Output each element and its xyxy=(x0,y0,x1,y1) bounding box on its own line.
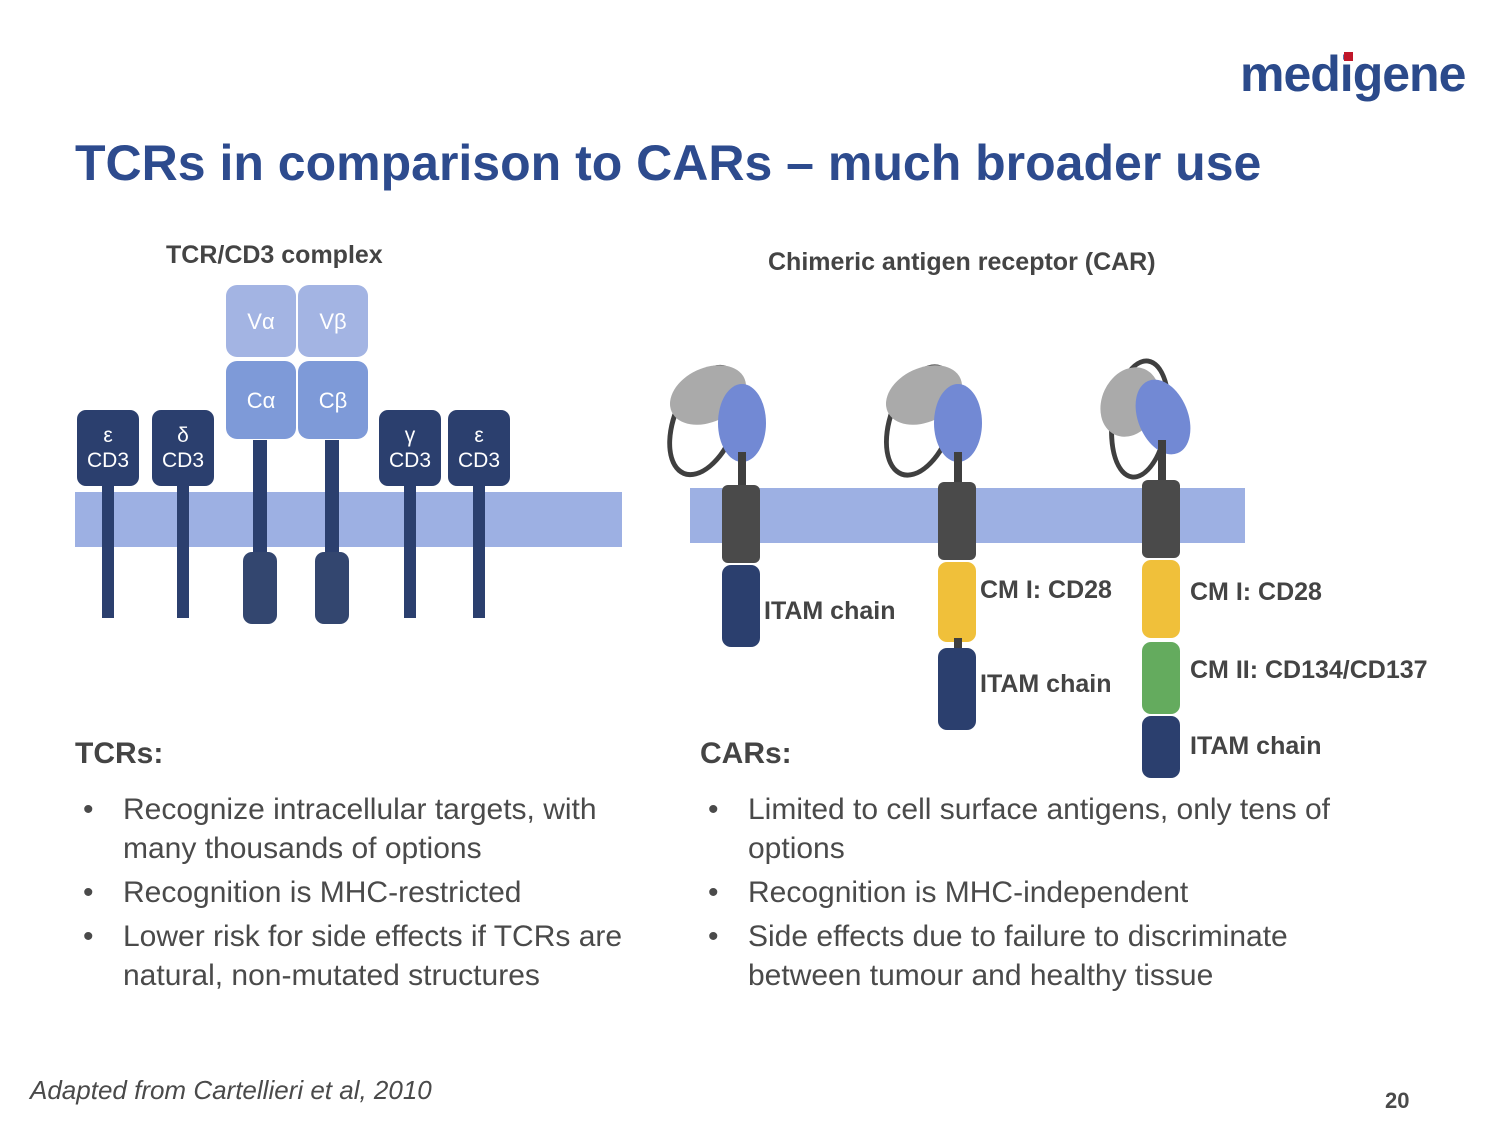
bullet-icon: • xyxy=(700,873,748,912)
cd3-greek-label: δ xyxy=(177,423,189,448)
tcr-diagram-heading: TCR/CD3 complex xyxy=(166,241,383,270)
cd3-gamma-stem xyxy=(404,480,416,618)
list-item: • Recognition is MHC-restricted xyxy=(75,873,675,912)
cd3-name-label: CD3 xyxy=(389,448,431,473)
tcr-v-alpha-label: Vα xyxy=(247,309,274,334)
cd3-epsilon-right-stem xyxy=(473,480,485,618)
cd3-epsilon-left-stem xyxy=(102,480,114,618)
bullet-icon: • xyxy=(75,790,123,829)
list-item-text: Recognition is MHC-restricted xyxy=(123,873,675,912)
cd3-chain-gamma: γ CD3 xyxy=(379,410,441,486)
car1-scfv-heavy-chain xyxy=(718,384,766,462)
logo-dot-icon xyxy=(1344,52,1353,61)
list-item-text: Lower risk for side effects if TCRs are … xyxy=(123,917,675,995)
source-attribution: Adapted from Cartellieri et al, 2010 xyxy=(30,1075,432,1106)
tcr-c-beta-label: Cβ xyxy=(319,388,348,413)
tcr-beta-tail xyxy=(315,552,349,624)
list-item: • Limited to cell surface antigens, only… xyxy=(700,790,1380,868)
car2-transmembrane-domain xyxy=(938,482,976,560)
car3-transmembrane-domain xyxy=(1142,480,1180,558)
medigene-logo: medigene xyxy=(1240,48,1450,100)
page-number: 20 xyxy=(1385,1088,1409,1114)
cd3-name-label: CD3 xyxy=(162,448,204,473)
cd3-greek-label: ε xyxy=(103,423,112,448)
list-item-text: Side effects due to failure to discrimin… xyxy=(748,917,1380,995)
tcr-domain-c-alpha: Cα xyxy=(226,361,296,439)
car2-module-cm1-label: CM I: CD28 xyxy=(980,576,1112,605)
tcr-section-title: TCRs: xyxy=(75,737,163,771)
bullet-icon: • xyxy=(75,873,123,912)
tcr-domain-c-beta: Cβ xyxy=(298,361,368,439)
car-bullet-list: • Limited to cell surface antigens, only… xyxy=(700,790,1380,1000)
tcr-bullet-list: • Recognize intracellular targets, with … xyxy=(75,790,675,1000)
car1-module-itam xyxy=(722,565,760,647)
list-item: • Side effects due to failure to discrim… xyxy=(700,917,1380,995)
car1-module-itam-label: ITAM chain xyxy=(764,597,895,626)
tcr-alpha-tail xyxy=(243,552,277,624)
cd3-chain-epsilon-left: ε CD3 xyxy=(77,410,139,486)
tcr-alpha-stem xyxy=(253,440,267,570)
car1-transmembrane-domain xyxy=(722,485,760,563)
slide-canvas: medigene TCRs in comparison to CARs – mu… xyxy=(0,0,1500,1125)
car2-module-cm1 xyxy=(938,562,976,642)
tcr-beta-stem xyxy=(325,440,339,570)
tcr-v-beta-label: Vβ xyxy=(319,309,346,334)
list-item-text: Limited to cell surface antigens, only t… xyxy=(748,790,1380,868)
car-section-title: CARs: xyxy=(700,737,792,771)
car-diagram-heading: Chimeric antigen receptor (CAR) xyxy=(768,248,1156,277)
car3-module-cm2-label: CM II: CD134/CD137 xyxy=(1190,656,1428,685)
cell-membrane-left xyxy=(75,492,622,547)
cd3-greek-label: ε xyxy=(474,423,483,448)
cd3-chain-delta: δ CD3 xyxy=(152,410,214,486)
list-item: • Recognition is MHC-independent xyxy=(700,873,1380,912)
car3-module-itam xyxy=(1142,716,1180,778)
cd3-greek-label: γ xyxy=(405,423,416,448)
tcr-domain-v-alpha: Vα xyxy=(226,285,296,357)
car3-module-cm1-label: CM I: CD28 xyxy=(1190,578,1322,607)
car3-module-cm2 xyxy=(1142,642,1180,714)
page-title: TCRs in comparison to CARs – much broade… xyxy=(75,133,1415,193)
list-item-text: Recognition is MHC-independent xyxy=(748,873,1380,912)
cd3-delta-stem xyxy=(177,480,189,618)
car2-module-itam xyxy=(938,648,976,730)
cd3-name-label: CD3 xyxy=(458,448,500,473)
list-item: • Recognize intracellular targets, with … xyxy=(75,790,675,868)
cd3-name-label: CD3 xyxy=(87,448,129,473)
bullet-icon: • xyxy=(75,917,123,956)
cd3-chain-epsilon-right: ε CD3 xyxy=(448,410,510,486)
tcr-domain-v-beta: Vβ xyxy=(298,285,368,357)
list-item-text: Recognize intracellular targets, with ma… xyxy=(123,790,675,868)
car2-scfv-heavy-chain xyxy=(934,384,982,462)
tcr-c-alpha-label: Cα xyxy=(247,388,276,413)
car3-module-itam-label: ITAM chain xyxy=(1190,732,1321,761)
list-item: • Lower risk for side effects if TCRs ar… xyxy=(75,917,675,995)
bullet-icon: • xyxy=(700,790,748,829)
car2-module-itam-label: ITAM chain xyxy=(980,670,1111,699)
car3-module-cm1 xyxy=(1142,560,1180,638)
bullet-icon: • xyxy=(700,917,748,956)
